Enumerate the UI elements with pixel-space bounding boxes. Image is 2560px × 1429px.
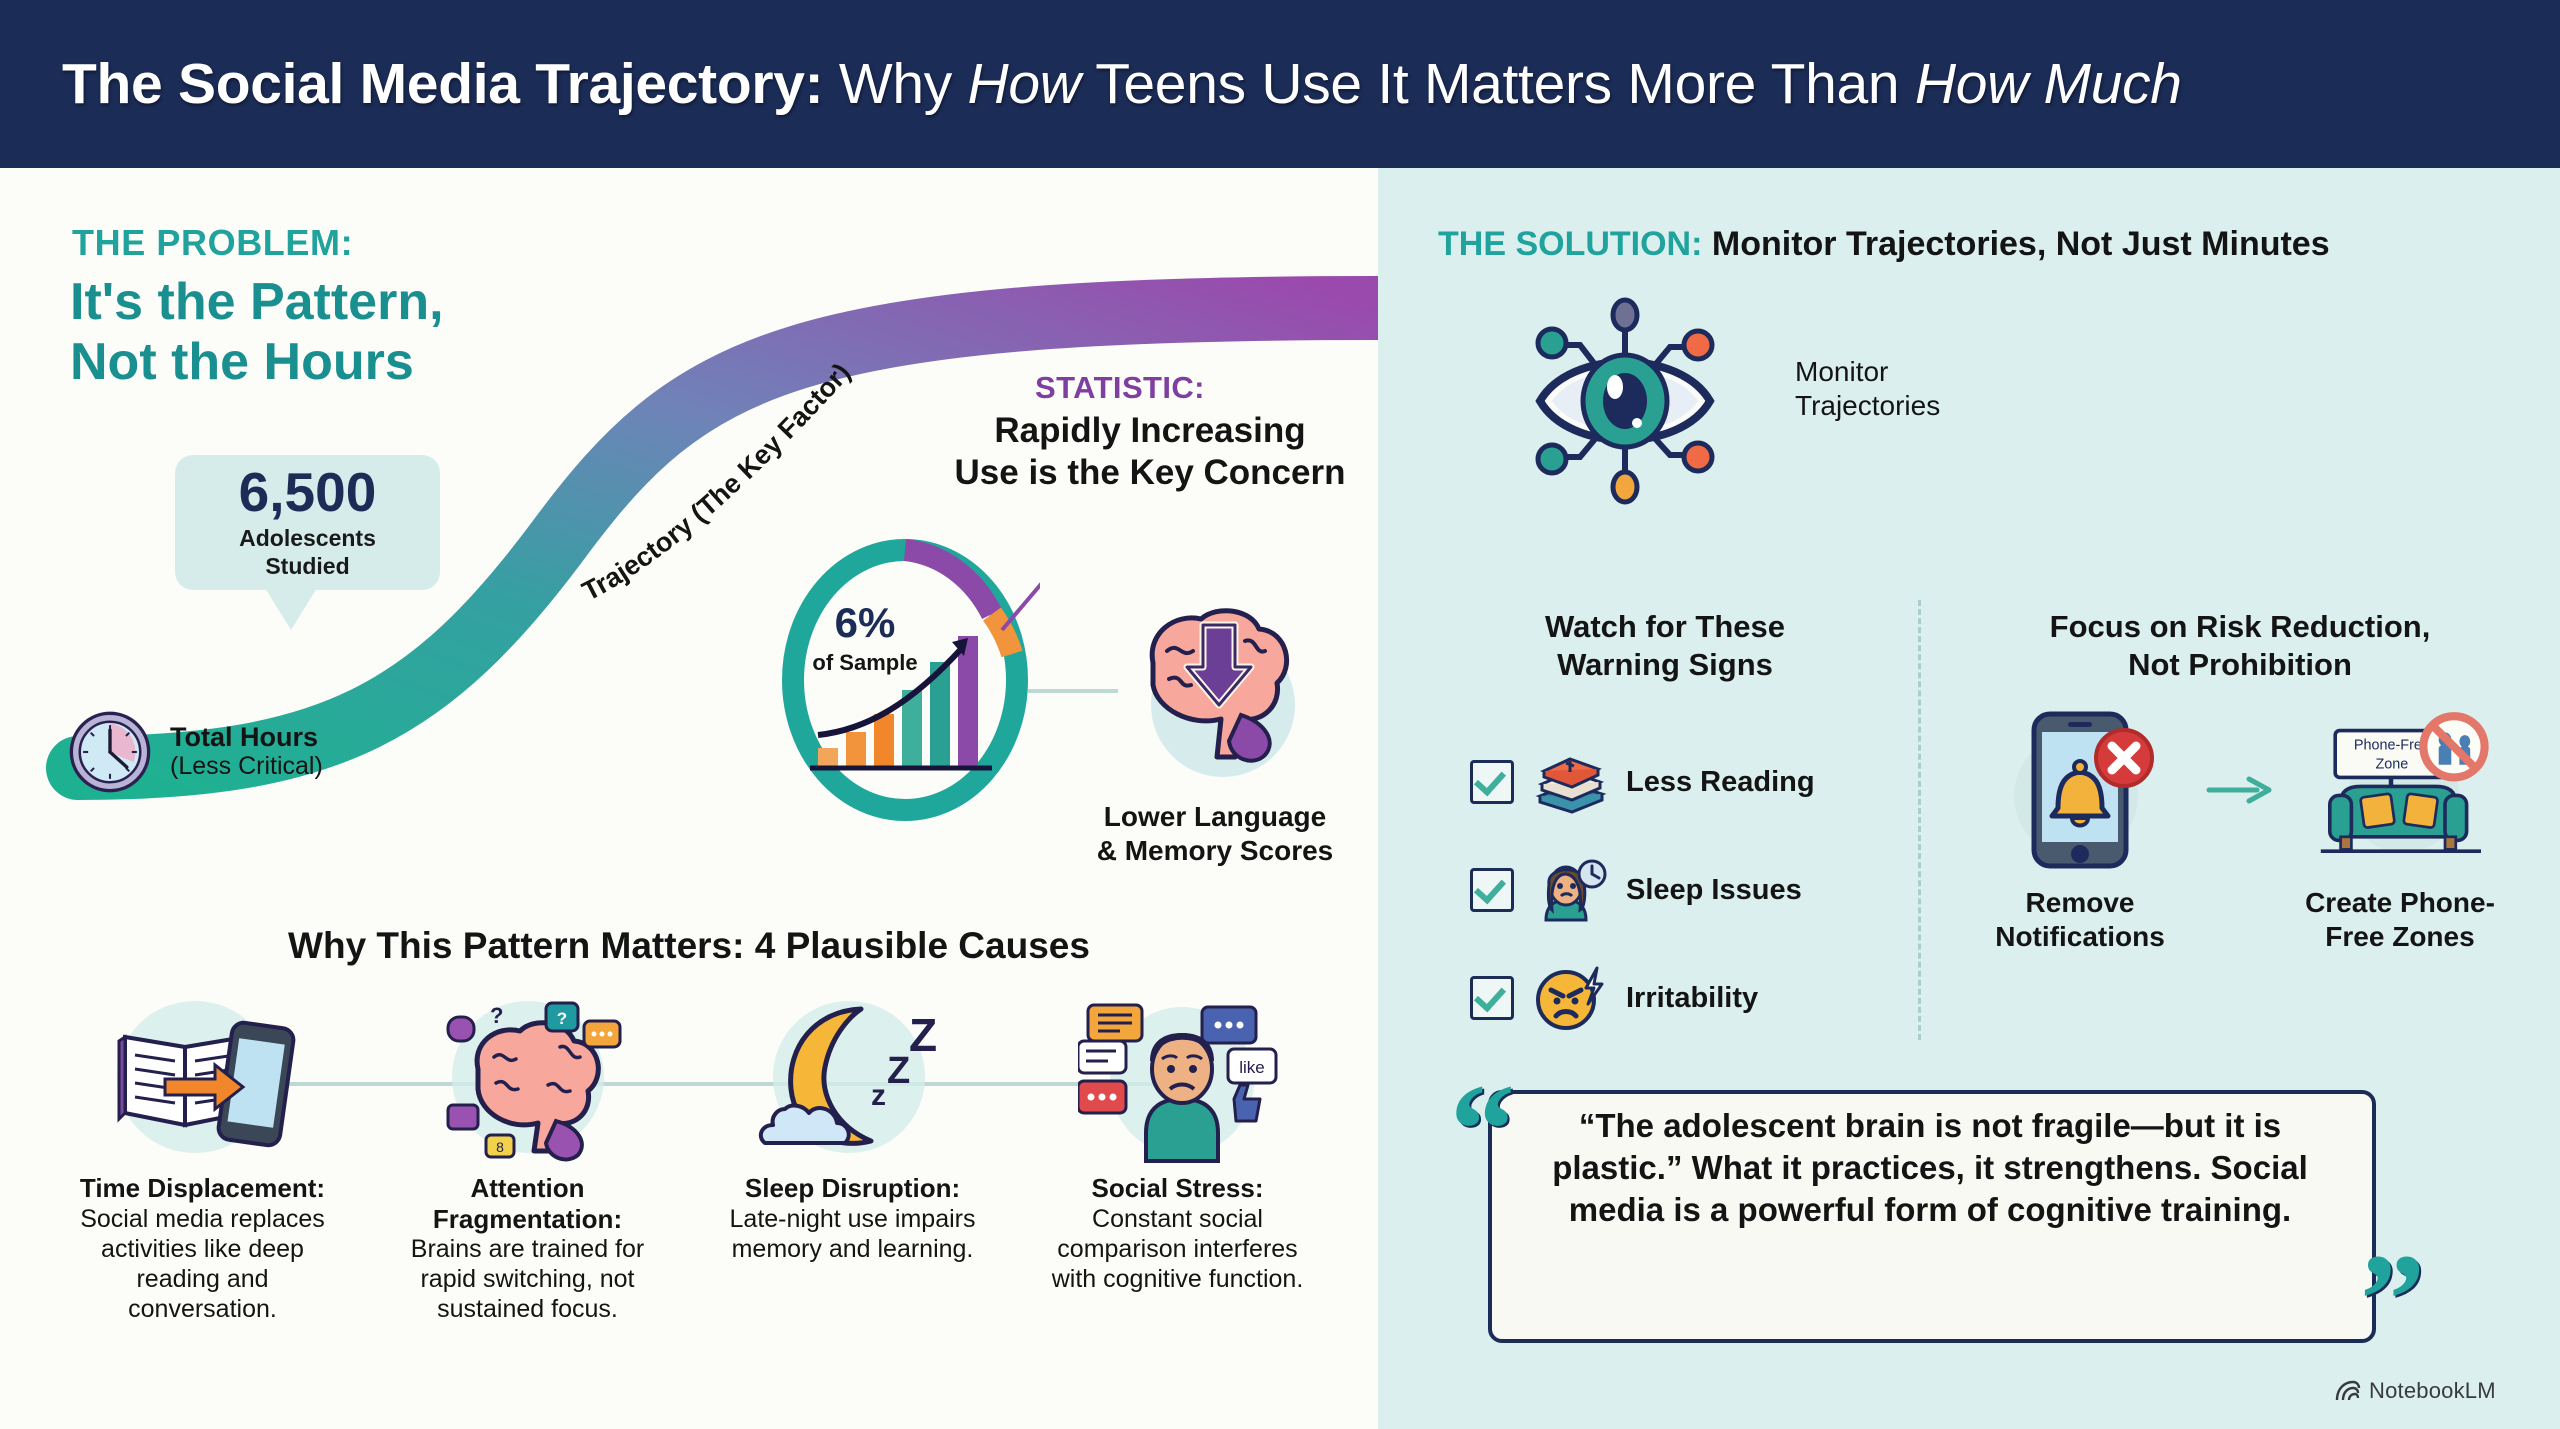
warning-signs-list: Less Reading Sleep Issues <box>1470 728 1870 1052</box>
svg-text:like: like <box>1239 1058 1265 1077</box>
cause-sleep-disruption: z Z Z Sleep Disruption: Late-night use i… <box>690 985 1015 1324</box>
risk-reduction-title: Focus on Risk Reduction, Not Prohibition <box>1960 608 2520 684</box>
svg-text:8: 8 <box>496 1139 504 1155</box>
svg-text:Z: Z <box>909 1009 937 1061</box>
checkbox-irritability[interactable] <box>1470 976 1514 1020</box>
cause-title: Social Stress: <box>1043 1173 1313 1204</box>
brain-caption: Lower Language & Memory Scores <box>1090 800 1340 867</box>
page-title: The Social Media Trajectory: Why How Tee… <box>62 51 2182 117</box>
phone-free-zone-sofa-icon: Phone-Free Zone <box>2310 700 2490 880</box>
warning-sign-label: Less Reading <box>1626 766 1815 799</box>
cause-attention-fragmentation: ? 8 ? Attention Fragmentation: Brains ar… <box>365 985 690 1324</box>
page-title-rest-2: Teens Use It Matters More Than <box>1081 52 1915 116</box>
quote-text: “The adolescent brain is not fragile—but… <box>1520 1105 2340 1232</box>
book-to-phone-icon <box>103 985 303 1165</box>
svg-text:?: ? <box>556 1009 566 1028</box>
solution-heading: THE SOLUTION: Monitor Trajectories, Not … <box>1438 225 2330 264</box>
page-title-italic-1: How <box>968 52 1081 116</box>
adolescents-studied-label: Adolescents Studied <box>239 525 376 579</box>
risk-caption: Remove Notifications <box>1965 886 2195 953</box>
total-hours-row: Total Hours (Less Critical) <box>68 710 323 794</box>
risk-remove-notifications: Remove Notifications <box>1955 700 2205 953</box>
statistic-kicker: STATISTIC: <box>1035 370 1205 406</box>
books-stack-icon <box>1532 744 1608 820</box>
angry-face-icon <box>1532 960 1608 1036</box>
cause-body: Late-night use impairs memory and learni… <box>718 1204 988 1264</box>
quote-close-icon: ” <box>2360 1235 2425 1365</box>
page-title-bold: The Social Media Trajectory: <box>62 52 823 116</box>
solution-kicker: THE SOLUTION: <box>1438 225 1702 263</box>
right-arrow-icon <box>2205 700 2275 880</box>
causes-title: Why This Pattern Matters: 4 Plausible Ca… <box>0 925 1378 967</box>
cause-title: Attention Fragmentation: <box>393 1173 663 1234</box>
svg-text:?: ? <box>490 1003 503 1028</box>
problem-heading: It's the Pattern, Not the Hours <box>70 272 690 393</box>
warning-signs-title-line1: Watch for These <box>1455 608 1875 646</box>
warning-sign-label: Sleep Issues <box>1626 874 1802 907</box>
clock-icon <box>68 710 152 794</box>
warning-sign-sleep-issues[interactable]: Sleep Issues <box>1470 836 1870 944</box>
notebooklm-watermark: NotebookLM <box>2335 1378 2496 1404</box>
page-title-italic-2: How Much <box>1915 52 2182 116</box>
callout-pointer <box>265 588 317 630</box>
problem-heading-line1: It's the Pattern, <box>70 272 690 332</box>
risk-reduction-title-line1: Focus on Risk Reduction, <box>1960 608 2520 646</box>
adolescents-studied-callout: 6,500 Adolescents Studied <box>175 455 440 590</box>
brain-caption-line1: Lower Language <box>1090 800 1340 834</box>
cause-time-displacement: Time Displacement: Social media replaces… <box>40 985 365 1324</box>
donut-value: 6% <box>810 602 920 644</box>
total-hours-sub: (Less Critical) <box>170 752 323 782</box>
warning-sign-irritability[interactable]: Irritability <box>1470 944 1870 1052</box>
risk-caption: Create Phone- Free Zones <box>2285 886 2515 953</box>
svg-text:z: z <box>871 1079 886 1112</box>
phone-bell-blocked-icon <box>1990 700 2170 880</box>
risk-caption-line1: Remove <box>1965 886 2195 920</box>
donut-brain-connector <box>1028 686 1118 696</box>
moon-sleep-icon: z Z Z <box>753 985 953 1165</box>
warning-sign-less-reading[interactable]: Less Reading <box>1470 728 1870 836</box>
cause-label: Attention Fragmentation: Brains are trai… <box>393 1173 663 1324</box>
causes-row: Time Displacement: Social media replaces… <box>40 985 1340 1324</box>
problem-kicker: THE PROBLEM: <box>72 222 353 264</box>
statistic-headline-line1: Rapidly Increasing <box>940 410 1360 452</box>
sign-line1: Phone-Free <box>2354 738 2430 754</box>
cause-title: Sleep Disruption: <box>718 1173 988 1204</box>
svg-text:Z: Z <box>887 1050 910 1092</box>
total-hours-label: Total Hours <box>170 722 323 752</box>
stressed-teen-icon: like <box>1078 985 1278 1165</box>
adolescents-studied-number: 6,500 <box>239 465 377 520</box>
cause-title: Time Displacement: <box>68 1173 338 1204</box>
brain-caption-line2: & Memory Scores <box>1090 834 1340 868</box>
cause-social-stress: like Social Stress: Constant social comp… <box>1015 985 1340 1324</box>
cause-body: Brains are trained for rapid switching, … <box>393 1234 663 1324</box>
warning-signs-title-line2: Warning Signs <box>1455 646 1875 684</box>
cause-label: Time Displacement: Social media replaces… <box>68 1173 338 1324</box>
risk-caption-line1: Create Phone- <box>2285 886 2515 920</box>
distracted-brain-icon: ? 8 ? <box>428 985 628 1165</box>
eye-caption-line1: Monitor <box>1795 355 2005 389</box>
eye-caption: Monitor Trajectories <box>1795 355 2005 423</box>
problem-heading-line2: Not the Hours <box>70 332 690 392</box>
notebooklm-label: NotebookLM <box>2369 1378 2496 1404</box>
page-title-rest-1: Why <box>823 52 967 116</box>
column-divider <box>1918 600 1921 1040</box>
risk-caption-line2: Free Zones <box>2285 920 2515 954</box>
warning-signs-title: Watch for These Warning Signs <box>1455 608 1875 684</box>
cause-label: Sleep Disruption: Late-night use impairs… <box>718 1173 988 1264</box>
notebooklm-icon <box>2335 1380 2361 1402</box>
cause-label: Social Stress: Constant social compariso… <box>1043 1173 1313 1294</box>
eye-caption-line2: Trajectories <box>1795 389 2005 423</box>
callout-line1: Adolescents <box>239 525 376 551</box>
risk-reduction-row: Remove Notifications Phone-Free Zone <box>1955 700 2525 953</box>
callout-line2: Studied <box>265 553 349 579</box>
statistic-headline: Rapidly Increasing Use is the Key Concer… <box>940 410 1360 494</box>
svg-text:Zone: Zone <box>2375 756 2408 772</box>
page-header: The Social Media Trajectory: Why How Tee… <box>0 0 2560 168</box>
brain-down-arrow-icon <box>1105 575 1320 790</box>
solution-heading-rest: Monitor Trajectories, Not Just Minutes <box>1702 225 2329 263</box>
checkbox-less-reading[interactable] <box>1470 760 1514 804</box>
cause-body: Constant social comparison interferes wi… <box>1043 1204 1313 1294</box>
checkbox-sleep-issues[interactable] <box>1470 868 1514 912</box>
tired-person-clock-icon <box>1532 852 1608 928</box>
quote-open-icon: “ <box>1450 1065 1515 1195</box>
risk-reduction-title-line2: Not Prohibition <box>1960 646 2520 684</box>
risk-caption-line2: Notifications <box>1965 920 2195 954</box>
sample-donut-chart: 6% of Sample <box>770 530 1040 830</box>
eye-network-icon <box>1500 285 1750 515</box>
donut-value-sub: of Sample <box>800 650 930 676</box>
risk-phone-free-zones: Phone-Free Zone <box>2275 700 2525 953</box>
cause-body: Social media replaces activities like de… <box>68 1204 338 1324</box>
infographic-canvas: The Social Media Trajectory: Why How Tee… <box>0 0 2560 1429</box>
warning-sign-label: Irritability <box>1626 982 1758 1015</box>
statistic-headline-line2: Use is the Key Concern <box>940 452 1360 494</box>
